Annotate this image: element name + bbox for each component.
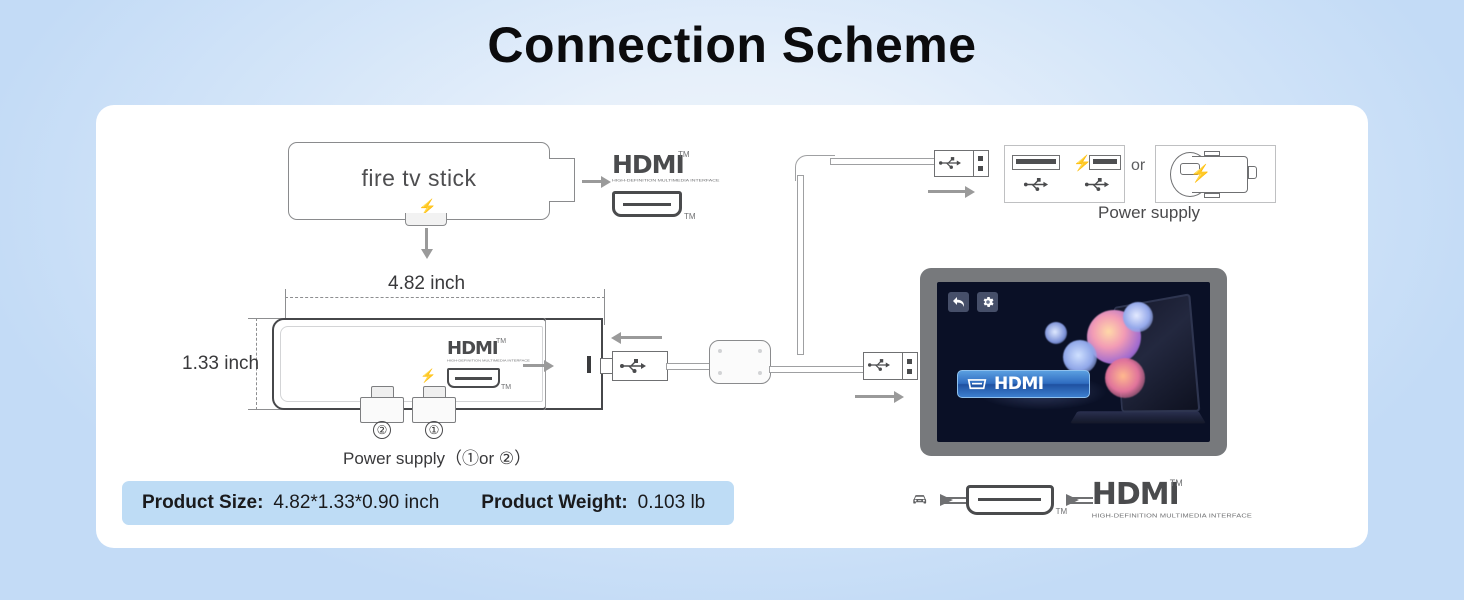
- flower-petal-decor-4: [1045, 322, 1067, 344]
- power-port-one-number: ①: [425, 421, 443, 439]
- usb-plug-to-power: [934, 150, 974, 177]
- device-hdmi-port-icon: [447, 368, 500, 388]
- page-title: Connection Scheme: [0, 16, 1464, 74]
- hdmi-trademark-bottom: TM: [1170, 478, 1183, 488]
- power-supply-or-label: or: [1131, 157, 1145, 175]
- usb-icon: [939, 157, 961, 169]
- usb-plug-tip: [600, 358, 613, 374]
- product-device-end-mark: [587, 356, 591, 373]
- cable-segment-to-power: [830, 158, 935, 165]
- hdmi-port-icon: [612, 191, 682, 217]
- car-to-hdmi-flow: TM HDMI HIGH-DEFINITION MULTIMEDIA INTER…: [912, 474, 1252, 526]
- usb-icon-second: [1083, 178, 1111, 191]
- device-hdmi-arrow-icon: [523, 364, 545, 367]
- device-hdmi-logo-icon: HDMI HIGH-DEFINITION MULTIMEDIA INTERFAC…: [447, 340, 530, 388]
- flower-petal-decor-2: [1123, 302, 1153, 332]
- monitor-screen: HDMI: [937, 282, 1210, 442]
- power-port-two-number: ②: [373, 421, 391, 439]
- width-dimension-label: 4.82 inch: [388, 273, 465, 295]
- cable-segment-to-monitor: [769, 366, 864, 373]
- hdmi-logo-icon: HDMI HIGH-DEFINITION MULTIMEDIA INTERFAC…: [612, 152, 719, 217]
- hdmi-logo-icon-bottom: HDMI HIGH-DEFINITION MULTIMEDIA INTERFAC…: [1092, 480, 1252, 520]
- connection-scheme-page: Connection Scheme fire tv stick ⚡ HDMI H…: [0, 0, 1464, 600]
- device-hdmi-trademark: TM: [501, 384, 511, 391]
- cable-elbow: [795, 155, 835, 181]
- product-size-key: Product Size:: [142, 492, 263, 514]
- fire-tv-hdmi-plug: [549, 158, 575, 202]
- usb-plug-to-device: [612, 351, 668, 381]
- cable-splitter-icon: [709, 340, 771, 384]
- lightning-bolt-icon: ⚡: [1190, 164, 1211, 184]
- power-supply-label: Power supply: [1098, 203, 1200, 223]
- height-dimension-label: 1.33 inch: [182, 353, 259, 375]
- width-tick-right: [604, 289, 605, 325]
- gear-icon[interactable]: [977, 292, 998, 312]
- width-dimension-line: [285, 297, 605, 298]
- arrow-right-icon: [582, 180, 602, 183]
- cable-vertical-to-power: [797, 175, 804, 355]
- usb-icon: [868, 359, 890, 371]
- device-lightning-bolt-icon: ⚡: [420, 368, 436, 384]
- arrow-right-icon-monitor: [855, 395, 895, 398]
- usb-icon: [1022, 178, 1050, 191]
- hdmi-trademark-top: TM: [678, 150, 690, 159]
- flower-petal-decor-3: [1105, 358, 1145, 398]
- double-arrow-right-icon-2: [1067, 493, 1079, 507]
- product-weight-value: 0.103 lb: [638, 492, 706, 514]
- arrow-right-icon-power: [928, 190, 966, 193]
- tablet-base-decor: [1070, 411, 1206, 423]
- product-size-value: 4.82*1.33*0.90 inch: [273, 492, 439, 514]
- power-port-two: [360, 386, 404, 424]
- flower-petal-decor: [1063, 340, 1097, 374]
- device-hdmi-wordmark: HDMI: [447, 340, 530, 358]
- hdmi-tagline: HIGH-DEFINITION MULTIMEDIA INTERFACE: [612, 179, 719, 183]
- back-arrow-icon[interactable]: [948, 292, 969, 312]
- power-port-one: [412, 386, 456, 424]
- hdmi-trademark: TM: [684, 212, 696, 221]
- usb-a-tip-to-power: [973, 150, 989, 177]
- arrow-left-icon: [620, 336, 662, 339]
- usb-plug-to-monitor: [863, 352, 903, 380]
- double-arrow-right-icon: [940, 493, 952, 507]
- monitor-hdmi-label: HDMI: [994, 374, 1044, 394]
- car-charger-icon: ⚡: [1155, 145, 1276, 203]
- hdmi-port-icon: [967, 379, 987, 390]
- device-hdmi-tagline: HIGH-DEFINITION MULTIMEDIA INTERFACE: [447, 359, 530, 362]
- monitor-hdmi-input-button[interactable]: HDMI: [957, 370, 1090, 398]
- hdmi-port-icon-bottom: TM: [966, 485, 1054, 515]
- usb-icon: [620, 359, 646, 373]
- device-power-supply-caption: Power supply（①or ②）: [343, 444, 531, 469]
- hdmi-wordmark: HDMI: [612, 152, 719, 177]
- device-hdmi-trademark-top: TM: [496, 338, 506, 345]
- specs-banner: Product Size: 4.82*1.33*0.90 inch Produc…: [122, 481, 734, 525]
- arrow-down-icon: [425, 228, 428, 250]
- product-weight-key: Product Weight:: [481, 492, 627, 514]
- hdmi-tagline-bottom: HIGH-DEFINITION MULTIMEDIA INTERFACE: [1092, 513, 1252, 519]
- usb-wall-adapter-icon: ⚡: [1004, 145, 1125, 203]
- fire-tv-power-port: [405, 213, 447, 226]
- hdmi-port-trademark: TM: [1056, 507, 1068, 516]
- usb-a-tip-to-monitor: [902, 352, 918, 380]
- car-front-icon: [912, 483, 927, 517]
- display-monitor: HDMI: [920, 268, 1227, 456]
- cable-segment-left: [666, 363, 712, 370]
